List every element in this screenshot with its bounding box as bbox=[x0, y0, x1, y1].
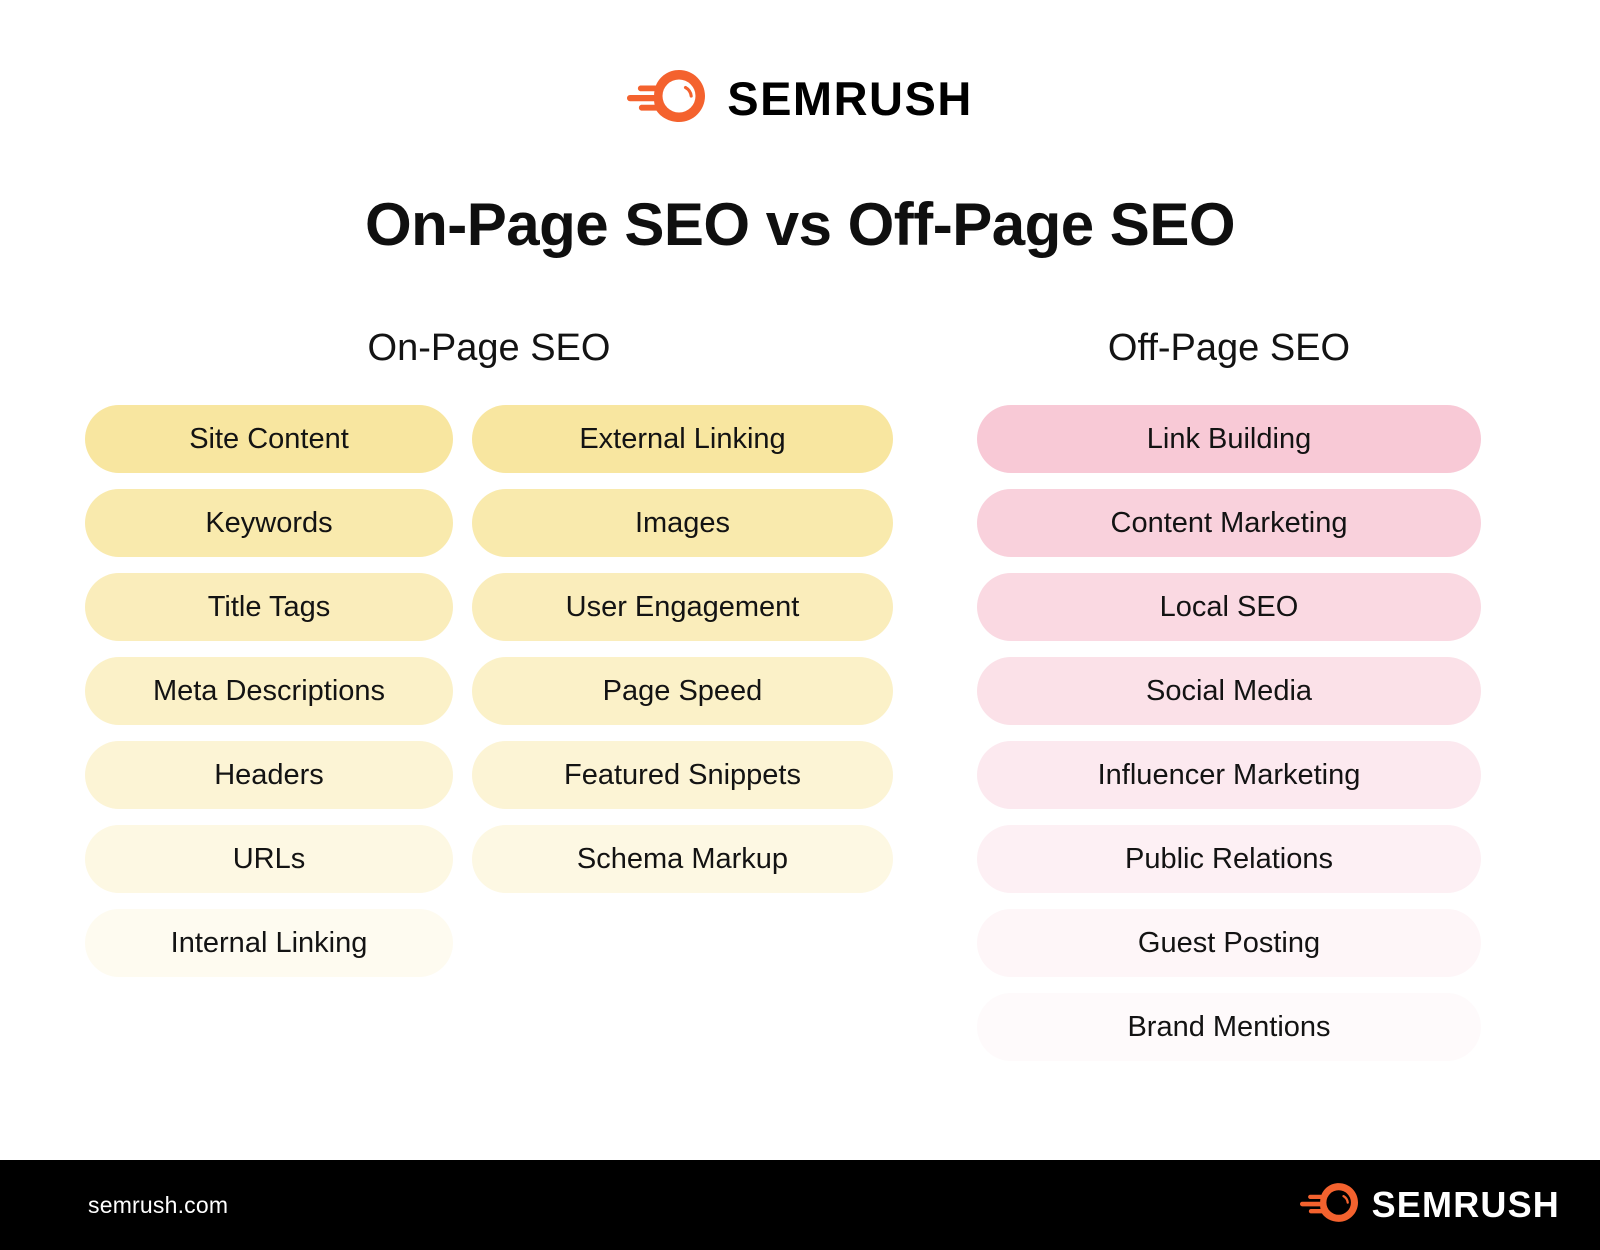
on-page-pill: Title Tags bbox=[85, 573, 453, 641]
semrush-comet-icon bbox=[627, 70, 705, 127]
off-page-pill: Local SEO bbox=[977, 573, 1481, 641]
header-brand: SEMRUSH bbox=[0, 70, 1600, 127]
on-page-pill: Internal Linking bbox=[85, 909, 453, 977]
on-page-pill: Featured Snippets bbox=[472, 741, 893, 809]
on-page-pill-label: Keywords bbox=[205, 507, 332, 540]
on-page-pill-label: Site Content bbox=[189, 423, 349, 456]
on-page-pill: External Linking bbox=[472, 405, 893, 473]
on-page-pill: Schema Markup bbox=[472, 825, 893, 893]
on-page-pill: Site Content bbox=[85, 405, 453, 473]
on-page-pill: URLs bbox=[85, 825, 453, 893]
off-page-pill-column: Link BuildingContent MarketingLocal SEOS… bbox=[977, 405, 1481, 1061]
off-page-pill-label: Brand Mentions bbox=[1127, 1011, 1330, 1044]
on-page-pill-label: Headers bbox=[214, 759, 324, 792]
on-page-pill-label: Meta Descriptions bbox=[153, 675, 385, 708]
on-page-pill-label: Title Tags bbox=[208, 591, 331, 624]
off-page-pill-label: Content Marketing bbox=[1111, 507, 1348, 540]
off-page-pill-label: Local SEO bbox=[1160, 591, 1299, 624]
on-page-pill: Keywords bbox=[85, 489, 453, 557]
page-title: On-Page SEO vs Off-Page SEO bbox=[0, 192, 1600, 258]
footer-brand: SEMRUSH bbox=[1300, 1183, 1560, 1227]
semrush-comet-icon-footer bbox=[1300, 1183, 1358, 1227]
off-page-pill-label: Guest Posting bbox=[1138, 927, 1320, 960]
on-page-pill-label: URLs bbox=[233, 843, 306, 876]
footer-wordmark: SEMRUSH bbox=[1372, 1187, 1560, 1223]
off-page-pill: Brand Mentions bbox=[977, 993, 1481, 1061]
on-page-pill: Meta Descriptions bbox=[85, 657, 453, 725]
off-page-pill: Influencer Marketing bbox=[977, 741, 1481, 809]
on-page-pill: Page Speed bbox=[472, 657, 893, 725]
on-page-pill-label: User Engagement bbox=[566, 591, 800, 624]
on-page-pill-label: Internal Linking bbox=[171, 927, 368, 960]
off-page-pill: Guest Posting bbox=[977, 909, 1481, 977]
off-page-pill: Social Media bbox=[977, 657, 1481, 725]
on-page-pill-label: Schema Markup bbox=[577, 843, 788, 876]
on-page-pill: User Engagement bbox=[472, 573, 893, 641]
column-heading-off-page: Off-Page SEO bbox=[977, 328, 1481, 370]
off-page-pill-label: Social Media bbox=[1146, 675, 1312, 708]
on-page-pill-column-1: Site ContentKeywordsTitle TagsMeta Descr… bbox=[85, 405, 453, 977]
on-page-pill-label: External Linking bbox=[579, 423, 785, 456]
off-page-pill: Content Marketing bbox=[977, 489, 1481, 557]
on-page-pill-label: Featured Snippets bbox=[564, 759, 801, 792]
off-page-pill-label: Link Building bbox=[1147, 423, 1311, 456]
footer-bar: semrush.com SEMRUSH bbox=[0, 1160, 1600, 1250]
off-page-pill: Link Building bbox=[977, 405, 1481, 473]
footer-url[interactable]: semrush.com bbox=[88, 1192, 228, 1219]
on-page-pill-label: Images bbox=[635, 507, 730, 540]
column-heading-on-page: On-Page SEO bbox=[85, 328, 893, 370]
on-page-pill-column-2: External LinkingImagesUser EngagementPag… bbox=[472, 405, 893, 893]
brand-wordmark: SEMRUSH bbox=[727, 75, 973, 122]
off-page-pill-label: Influencer Marketing bbox=[1098, 759, 1361, 792]
on-page-pill-label: Page Speed bbox=[603, 675, 763, 708]
on-page-pill: Images bbox=[472, 489, 893, 557]
off-page-pill: Public Relations bbox=[977, 825, 1481, 893]
on-page-pill: Headers bbox=[85, 741, 453, 809]
off-page-pill-label: Public Relations bbox=[1125, 843, 1333, 876]
